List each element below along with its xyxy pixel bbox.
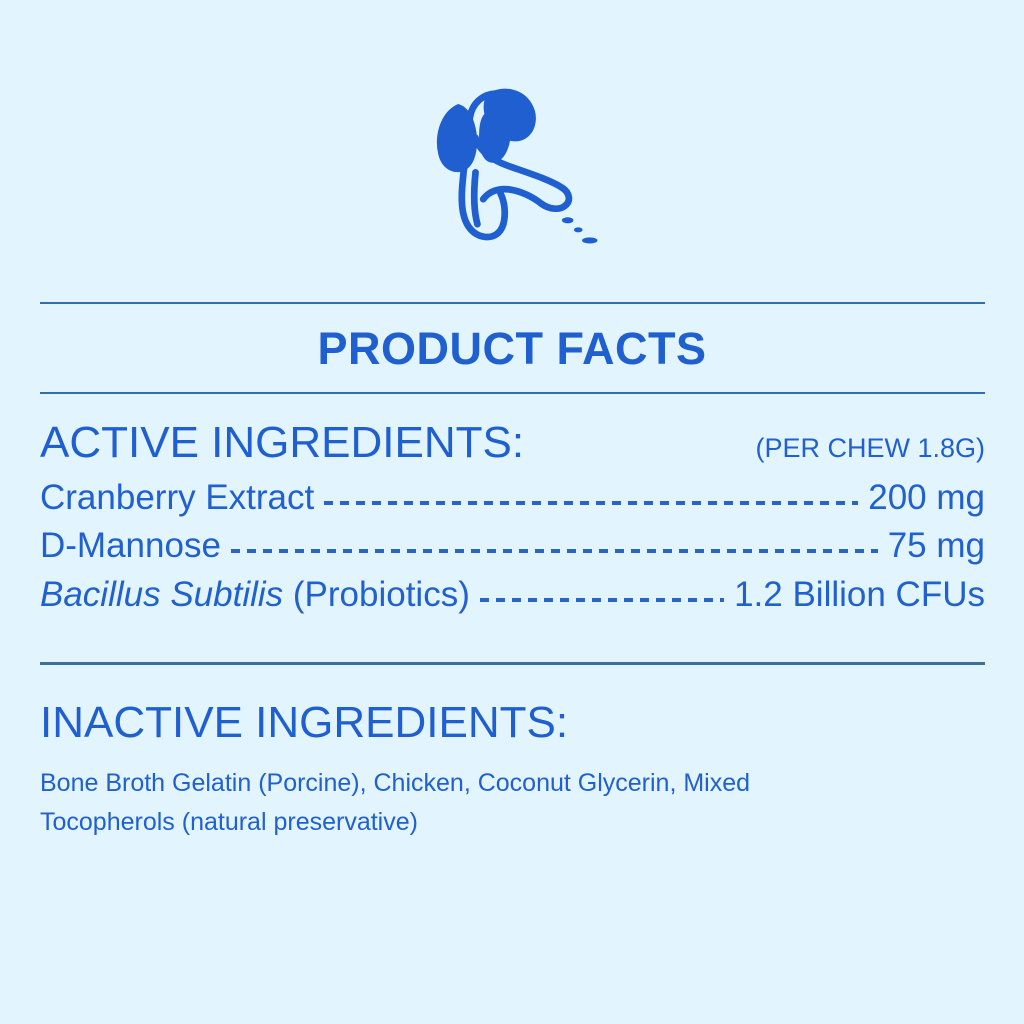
divider-under-title xyxy=(40,392,985,394)
divider-bottom xyxy=(40,662,985,665)
active-ingredients-list: Cranberry Extract 200 mg D-Mannose 75 mg… xyxy=(40,474,985,619)
dog-head-logo xyxy=(0,72,1024,262)
inactive-ingredients-heading: INACTIVE INGREDIENTS: xyxy=(40,700,985,746)
ingredient-amount: 1.2 Billion CFUs xyxy=(734,571,985,619)
active-ingredients-section: ACTIVE INGREDIENTS: (PER CHEW 1.8G) Cran… xyxy=(40,420,985,619)
dotted-leader xyxy=(480,586,724,606)
ingredient-row: Bacillus Subtilis (Probiotics) 1.2 Billi… xyxy=(40,571,985,619)
dotted-leader xyxy=(324,489,858,509)
divider-top xyxy=(40,302,985,304)
ingredient-amount: 200 mg xyxy=(868,474,985,522)
ingredient-name: Bacillus Subtilis (Probiotics) xyxy=(40,571,470,619)
ingredient-name-scientific: Bacillus Subtilis xyxy=(40,575,283,614)
ingredient-name-common: (Probiotics) xyxy=(283,575,470,614)
product-facts-label: PRODUCT FACTS ACTIVE INGREDIENTS: (PER C… xyxy=(0,0,1024,1024)
ingredient-row: Cranberry Extract 200 mg xyxy=(40,474,985,522)
serving-size-note: (PER CHEW 1.8G) xyxy=(755,435,985,462)
page-title: PRODUCT FACTS xyxy=(0,326,1024,371)
active-ingredients-heading: ACTIVE INGREDIENTS: xyxy=(40,420,524,466)
ingredient-name: D-Mannose xyxy=(40,522,221,570)
dog-head-icon xyxy=(416,80,608,255)
inactive-ingredients-section: INACTIVE INGREDIENTS: Bone Broth Gelatin… xyxy=(40,700,985,842)
ingredient-amount: 75 mg xyxy=(888,522,985,570)
ingredient-name: Cranberry Extract xyxy=(40,474,314,522)
ingredient-row: D-Mannose 75 mg xyxy=(40,522,985,570)
dotted-leader xyxy=(231,537,878,557)
active-heading-row: ACTIVE INGREDIENTS: (PER CHEW 1.8G) xyxy=(40,420,985,466)
inactive-ingredients-text: Bone Broth Gelatin (Porcine), Chicken, C… xyxy=(40,764,870,842)
